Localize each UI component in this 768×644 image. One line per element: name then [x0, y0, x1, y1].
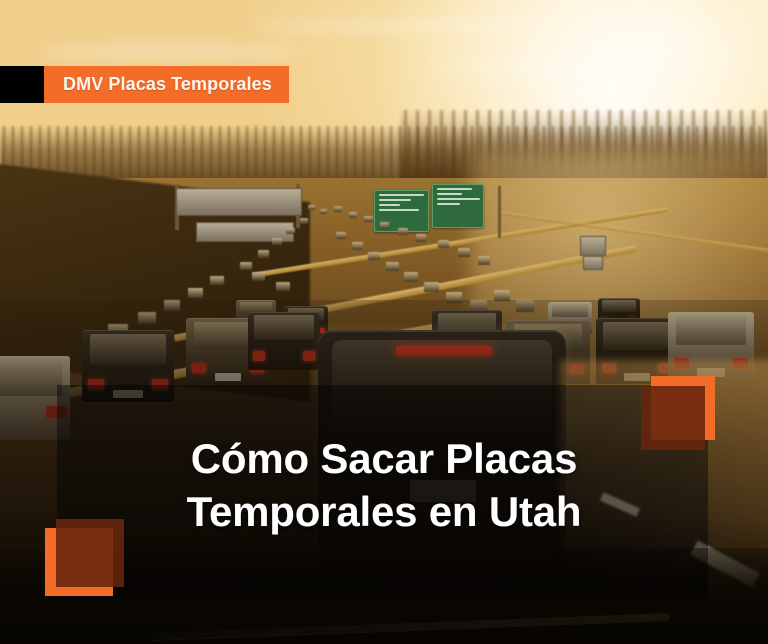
distant-vehicle — [424, 282, 439, 292]
oncoming-vehicle — [276, 282, 290, 291]
distant-vehicle — [368, 252, 380, 260]
distant-vehicle — [416, 234, 426, 242]
roadside-sign — [580, 236, 606, 256]
distant-vehicle — [458, 248, 470, 257]
badge-orange-block[interactable]: DMV Placas Temporales — [44, 66, 289, 103]
category-badge[interactable]: DMV Placas Temporales — [0, 66, 289, 103]
distant-vehicle — [336, 232, 346, 239]
overhead-sign-board — [176, 188, 302, 216]
distant-vehicle — [308, 205, 315, 210]
article-hero-card: DMV Placas Temporales Cómo Sacar Placas … — [0, 0, 768, 644]
distant-vehicle — [478, 256, 490, 265]
cloud-streak — [420, 62, 640, 72]
distant-vehicle — [380, 222, 389, 229]
distant-vehicle — [352, 242, 363, 250]
decor-dark-square — [56, 519, 124, 587]
cloud-streak — [250, 20, 550, 32]
distant-vehicle — [258, 250, 269, 258]
distant-vehicle — [404, 272, 418, 282]
sign-gantry-post — [498, 186, 501, 238]
distant-vehicle — [240, 262, 252, 270]
decor-dark-square — [641, 386, 705, 450]
distant-vehicle — [349, 212, 357, 218]
oncoming-vehicle — [210, 276, 224, 285]
distant-vehicle — [438, 240, 449, 248]
decor-square-bottom-left — [45, 528, 113, 596]
distant-vehicle — [386, 262, 399, 271]
distant-vehicle — [272, 238, 282, 245]
distant-vehicle — [320, 209, 327, 214]
oncoming-vehicle — [188, 288, 203, 298]
distant-vehicle — [300, 218, 308, 224]
distant-vehicle — [398, 228, 408, 235]
highway-sign-green — [432, 184, 484, 228]
distant-vehicle — [334, 206, 342, 212]
oncoming-vehicle — [252, 272, 265, 281]
badge-label: DMV Placas Temporales — [63, 74, 272, 95]
distant-vehicle — [286, 228, 295, 234]
cloud-streak — [40, 44, 300, 60]
decor-square-top-right — [651, 376, 715, 440]
distant-vehicle — [364, 216, 373, 222]
roadside-sign — [583, 256, 603, 270]
badge-black-block — [0, 66, 44, 103]
